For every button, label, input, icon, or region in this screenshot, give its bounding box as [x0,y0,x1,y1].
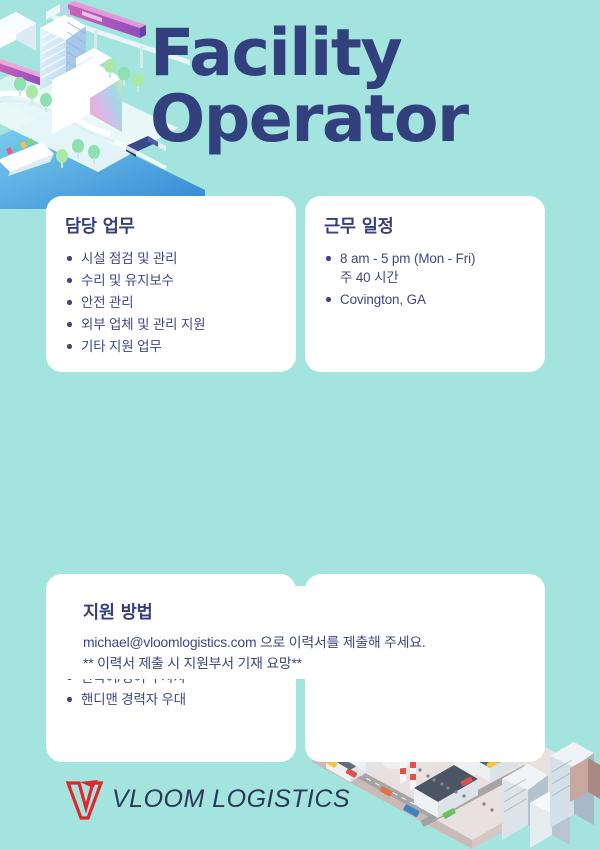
list-item: 핸디맨 경력자 우대 [65,690,276,709]
title-line-1: Facility [150,22,580,86]
list-item: 수리 및 유지보수 [65,271,276,290]
card-apply-method: 지원 방법 michael@vloomlogistics.com 으로 이력서를… [55,586,545,679]
rail-pillar [94,30,97,50]
apply-instruction-line-1[interactable]: michael@vloomlogistics.com 으로 이력서를 제출해 주… [83,632,545,653]
list-item-sub: 주 40 시간 [340,268,525,287]
list-item: 안전 관리 [65,293,276,312]
card-duties-heading: 담당 업무 [65,213,276,238]
logo: VLOOM LOGISTICS [64,778,350,820]
logo-text: VLOOM LOGISTICS [112,785,350,814]
list-item: 시설 점검 및 관리 [65,249,276,268]
job-posting-poster: Facility Operator 담당 업무 시설 점검 및 관리 수리 및 … [0,0,600,849]
cards-row-2: 지원 자격 미국 내 합법적인 취업 및 체류 자격 소지자 한국어/영어 구사… [0,385,600,585]
list-item-main: Covington, GA [340,292,426,307]
card-schedule-heading: 근무 일정 [324,213,525,238]
cards-row-1: 담당 업무 시설 점검 및 관리 수리 및 유지보수 안전 관리 외부 업체 및… [0,196,600,385]
list-item: 8 am - 5 pm (Mon - Fri) 주 40 시간 [324,249,525,287]
card-schedule: 근무 일정 8 am - 5 pm (Mon - Fri) 주 40 시간 Co… [305,196,545,372]
building-white-left [0,12,36,52]
list-item-main: 핸디맨 경력자 우대 [81,692,186,707]
list-item: 기타 지원 업무 [65,337,276,356]
v-checkmark-logo-icon [64,778,104,820]
page-title: Facility Operator [150,22,580,151]
list-item: 외부 업체 및 관리 지원 [65,315,276,334]
title-line-2: Operator [150,88,580,152]
schedule-list: 8 am - 5 pm (Mon - Fri) 주 40 시간 Covingto… [324,249,525,309]
list-item: Covington, GA [324,290,525,309]
card-duties: 담당 업무 시설 점검 및 관리 수리 및 유지보수 안전 관리 외부 업체 및… [46,196,296,372]
rail-pillar [140,46,143,68]
card-apply-heading: 지원 방법 [83,599,545,624]
duties-list: 시설 점검 및 관리 수리 및 유지보수 안전 관리 외부 업체 및 관리 지원… [65,249,276,356]
apply-instruction-line-2: ** 이력서 제출 시 지원부서 기재 요망** [83,653,545,674]
info-cards-container: 담당 업무 시설 점검 및 관리 수리 및 유지보수 안전 관리 외부 업체 및… [0,196,600,585]
list-item-main: 8 am - 5 pm (Mon - Fri) [340,251,475,266]
